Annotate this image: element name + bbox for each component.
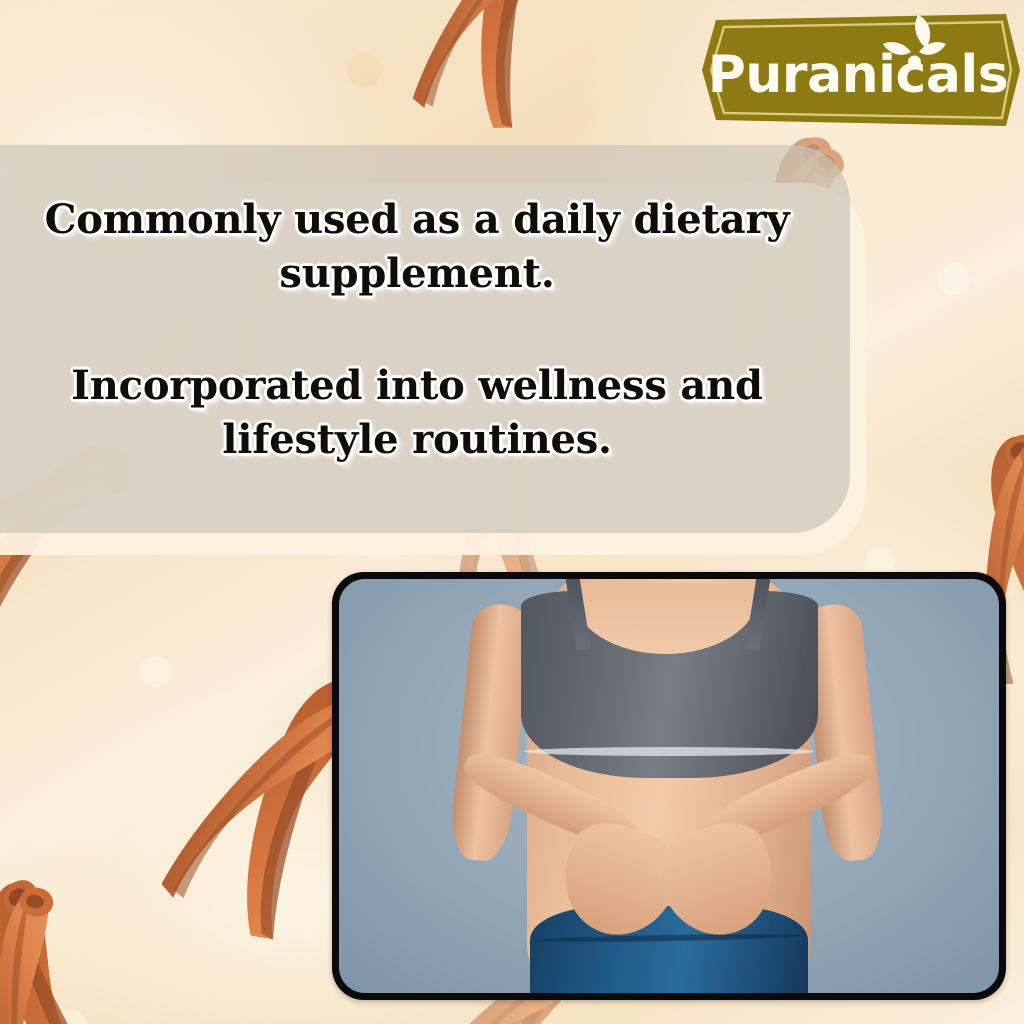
- list-item: Commonly used as a daily dietary supplem…: [40, 193, 794, 301]
- bullet-list: Commonly used as a daily dietary supplem…: [0, 145, 850, 533]
- bullet-text-2: Incorporated into wellness and lifestyle…: [40, 359, 794, 467]
- lifestyle-photo: [339, 579, 999, 993]
- bullet-text-1: Commonly used as a daily dietary supplem…: [40, 193, 794, 301]
- cinnamon-stick-icon-top-center: [367, 0, 592, 142]
- bullet-spacer: [40, 301, 794, 359]
- list-item: Incorporated into wellness and lifestyle…: [40, 359, 794, 467]
- photo-bra-band: [524, 747, 814, 756]
- photo-frame: [332, 572, 1006, 1000]
- brand-logo[interactable]: Puranicals: [702, 14, 1020, 126]
- brand-name: Puranicals: [702, 14, 1020, 126]
- social-media-card: Commonly used as a daily dietary supplem…: [0, 0, 1024, 1024]
- photo-leggings: [530, 906, 807, 993]
